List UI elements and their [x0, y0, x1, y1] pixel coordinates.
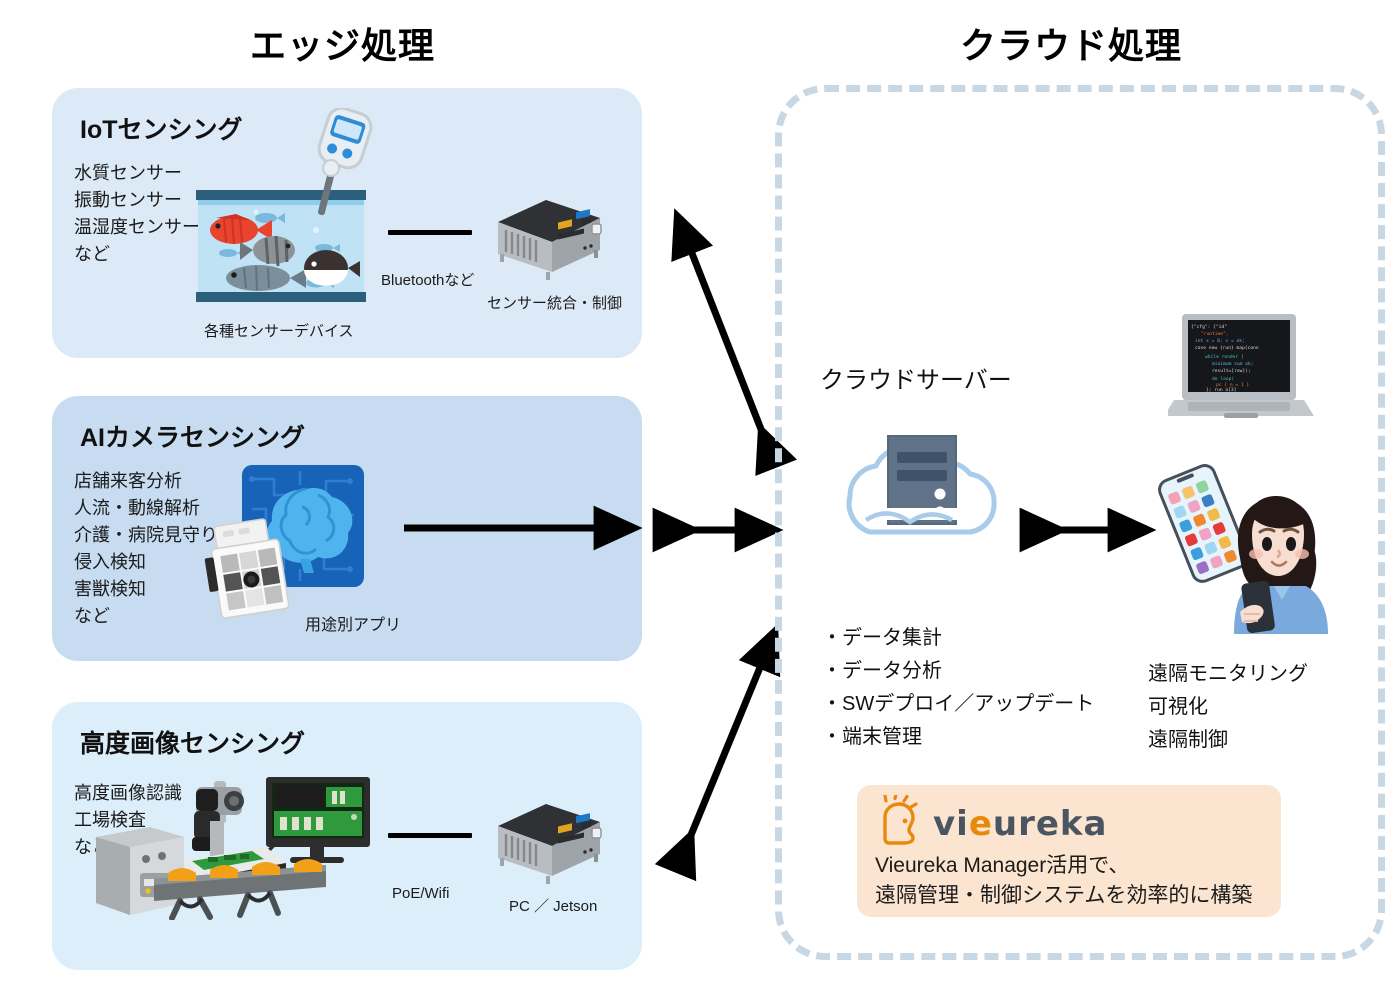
water-quality-probe-illustration: [305, 108, 375, 218]
arrow-cloud-to-client-devices: [1032, 508, 1152, 550]
svg-text:"runtime",: "runtime",: [1201, 331, 1229, 337]
iot-device-caption: 各種センサーデバイス: [204, 320, 354, 341]
imaging-target-caption: PC ／ Jetson: [509, 895, 597, 916]
vieureka-description: Vieureka Manager活用で、 遠隔管理・制御システムを効率的に構築: [875, 851, 1252, 911]
arrow-aicam-app-to-cloud: [404, 508, 632, 548]
factory-inspection-illustration: [88, 775, 378, 920]
iot-link-caption: Bluetoothなど: [381, 269, 474, 290]
person-with-phone-illustration: [1152, 462, 1352, 660]
panel-aicam-title: AIカメラセンシング: [80, 418, 305, 454]
arrow-edge-imaging-to-cloud: [660, 630, 790, 880]
cloud-server-illustration: [812, 420, 1042, 580]
vieureka-head-icon: [877, 795, 925, 852]
vieureka-card: vieureka Vieureka Manager活用で、 遠隔管理・制御システ…: [857, 785, 1281, 917]
vieureka-wordmark: vieureka: [933, 804, 1107, 844]
arrow-edge-aicam-to-cloud: [665, 505, 775, 555]
panel-iot-list: 水質センサー 振動センサー 温湿度センサー など: [74, 160, 200, 268]
diagram-canvas: エッジ処理 クラウド処理 IoTセンシング 水質センサー 振動センサー 温湿度セ…: [0, 0, 1400, 1000]
edge-column-title: エッジ処理: [250, 17, 435, 69]
arrow-edge-iot-to-cloud: [660, 215, 790, 465]
wordmark-highlight: e: [969, 804, 993, 844]
panel-iot-title: IoTセンシング: [80, 110, 243, 146]
cloud-server-label: クラウドサーバー: [820, 360, 1012, 395]
cloud-column-title: クラウド処理: [960, 17, 1182, 69]
svg-text:{"cfg": {"id": {"cfg": {"id": [1191, 324, 1227, 330]
mini-pc-illustration: [482, 800, 610, 890]
laptop-terminal-illustration: {"cfg": {"id" "runtime", int x = 0; v = …: [1168, 312, 1314, 438]
imaging-link-line: [388, 833, 472, 838]
svg-text:while render {: while render {: [1205, 354, 1244, 360]
svg-text:minimum sum ok;: minimum sum ok;: [1212, 361, 1254, 367]
iot-target-caption: センサー統合・制御: [487, 292, 622, 313]
aicam-app-caption: 用途別アプリ: [305, 611, 401, 635]
svg-text:int x = 0; v = ok;: int x = 0; v = ok;: [1195, 338, 1245, 344]
iot-link-line: [388, 230, 472, 235]
svg-text:result=[row]);: result=[row]);: [1212, 368, 1251, 374]
mini-pc-illustration: [482, 196, 610, 286]
vieureka-logo-row: vieureka: [877, 795, 1107, 852]
ai-camera-brain-illustration: [200, 465, 400, 630]
svg-text:case new {run} map{conn: case new {run} map{conn: [1195, 345, 1259, 351]
panel-aicam-list: 店舗来客分析 人流・動線解析 介護・病院見守り 侵入検知 害獣検知 など: [74, 468, 218, 630]
svg-text:}; run a[3]: }; run a[3]: [1206, 387, 1236, 393]
client-capability-list: 遠隔モニタリング 可視化 遠隔制御: [1148, 658, 1308, 757]
wordmark-suffix: ureka: [993, 804, 1108, 844]
imaging-link-caption: PoE/Wifi: [392, 885, 450, 902]
svg-text:do loop(: do loop(: [1212, 376, 1234, 382]
cloud-capability-list: ・データ集計 ・データ分析 ・SWデプロイ／アップデート ・端末管理: [822, 622, 1094, 754]
wordmark-prefix: vi: [933, 804, 969, 844]
panel-imaging-title: 高度画像センシング: [80, 724, 305, 760]
